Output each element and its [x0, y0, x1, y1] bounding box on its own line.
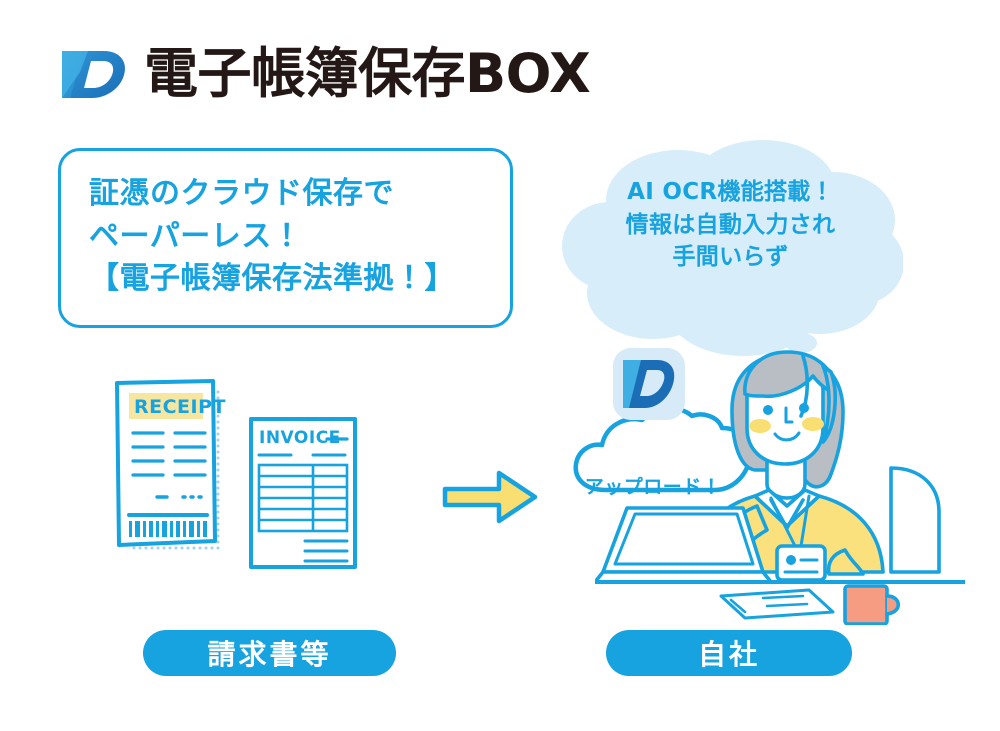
cloud-line-2: 情報は自動入力され: [558, 209, 903, 242]
header: 電子帳簿保存BOX: [58, 42, 590, 106]
thought-cloud: AI OCR機能搭載！ 情報は自動入力され 手間いらず: [558, 138, 903, 383]
callout-line-3: 【電子帳簿保存法準拠！】: [89, 258, 496, 301]
invoice-document-icon: INVOICE: [243, 413, 363, 573]
badge-invoices[interactable]: 請求書等: [143, 630, 396, 676]
cloud-line-3: 手間いらず: [558, 241, 903, 274]
woman-at-laptop-icon: [595, 350, 965, 625]
callout-box: 証憑のクラウド保存で ペーパーレス！ 【電子帳簿保存法準拠！】: [58, 148, 513, 328]
callout-line-2: ペーパーレス！: [89, 216, 496, 259]
callout-line-1: 証憑のクラウド保存で: [89, 173, 496, 216]
callout-text-block: 証憑のクラウド保存で ペーパーレス！ 【電子帳簿保存法準拠！】: [89, 173, 496, 301]
source-documents-group: RECEIPT: [95, 365, 395, 590]
cloud-line-1: AI OCR機能搭載！: [558, 176, 903, 209]
receipt-title-text: RECEIPT: [134, 396, 226, 418]
page-title: 電子帳簿保存BOX: [144, 47, 590, 101]
thought-cloud-text-block: AI OCR機能搭載！ 情報は自動入力され 手間いらず: [558, 176, 903, 274]
poster-canvas: 電子帳簿保存BOX 証憑のクラウド保存で ペーパーレス！ 【電子帳簿保存法準拠！…: [0, 0, 1000, 731]
badge-own-company[interactable]: 自社: [606, 630, 852, 676]
d-logo-mark-icon: [58, 42, 130, 106]
right-arrow-icon: [437, 466, 543, 528]
receipt-document-icon: RECEIPT: [95, 365, 235, 570]
